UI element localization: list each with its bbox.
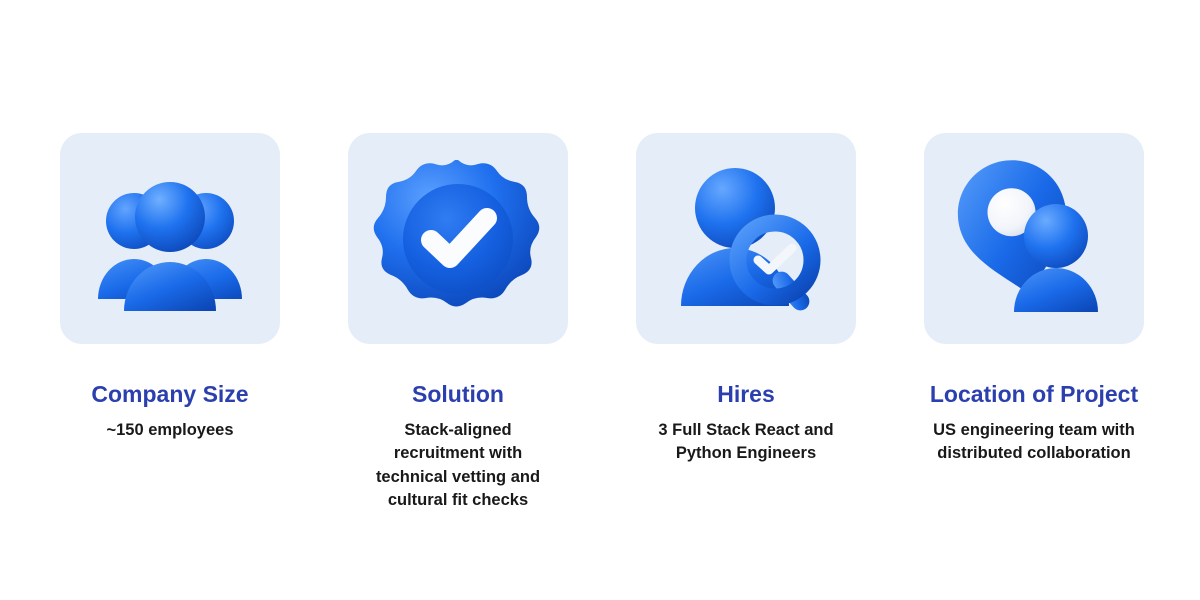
icon-tile-hires — [636, 133, 856, 344]
card-company-size: Company Size ~150 employees — [60, 133, 280, 442]
user-search-icon — [659, 156, 834, 321]
card-description: ~150 employees — [50, 419, 290, 442]
card-title: Solution — [412, 382, 504, 407]
card-solution: Solution Stack-aligned recruitment with … — [348, 133, 568, 513]
card-location-of-project: Location of Project US engineering team … — [924, 133, 1144, 466]
group-of-people-icon — [80, 159, 260, 319]
infographic-board: Company Size ~150 employees — [0, 0, 1200, 600]
icon-tile-solution — [348, 133, 568, 344]
card-hires: Hires 3 Full Stack React and Python Engi… — [636, 133, 856, 466]
icon-tile-company-size — [60, 133, 280, 344]
icon-tile-location — [924, 133, 1144, 344]
card-description: 3 Full Stack React and Python Engineers — [634, 419, 859, 466]
verified-badge-check-icon — [373, 154, 543, 324]
card-description: Stack-aligned recruitment with technical… — [366, 419, 551, 513]
card-title: Hires — [717, 382, 775, 407]
card-description: US engineering team with distributed col… — [932, 419, 1137, 466]
location-pin-person-icon — [944, 154, 1124, 324]
cards-row: Company Size ~150 employees — [0, 0, 1200, 600]
card-title: Company Size — [91, 382, 248, 407]
card-title: Location of Project — [930, 382, 1138, 407]
